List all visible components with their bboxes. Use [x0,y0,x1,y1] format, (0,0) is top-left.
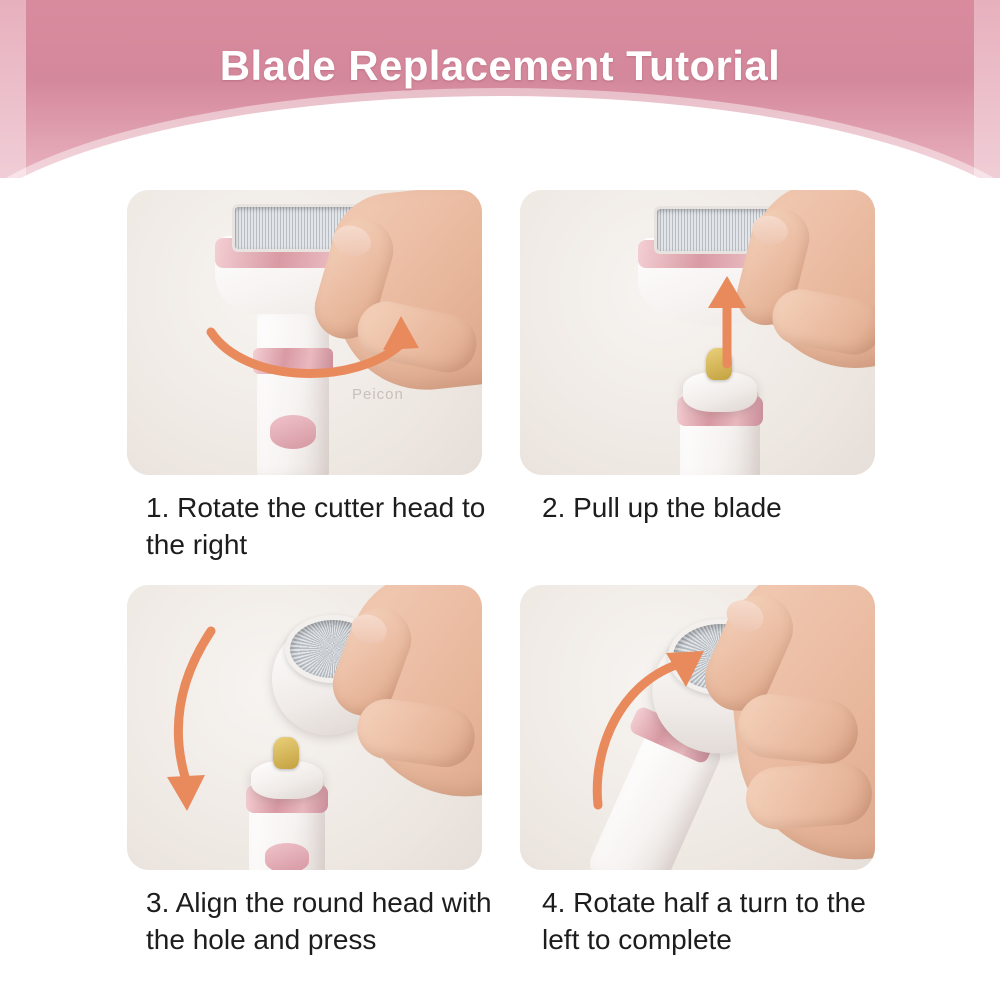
pull-up-arrow-icon [702,276,752,366]
shaver-button [265,843,309,870]
step-4: 4. Rotate half a turn to the left to com… [500,585,1000,980]
step-3-caption: 3. Align the round head with the hole an… [146,884,506,958]
rotate-right-arrow-icon [205,308,425,398]
step-1-image: Peicon [127,190,482,475]
rotate-left-arrow-icon [562,647,712,827]
step-3-image [127,585,482,870]
step-3: 3. Align the round head with the hole an… [0,585,500,980]
step-2-caption: 2. Pull up the blade [542,489,902,526]
steps-grid: Peicon 1. Rotate the cutter head to the … [0,190,1000,980]
step-1: Peicon 1. Rotate the cutter head to the … [0,190,500,585]
step-4-image [520,585,875,870]
step-2: 2. Pull up the blade [500,190,1000,585]
page-header: Blade Replacement Tutorial [0,0,1000,178]
step-1-caption: 1. Rotate the cutter head to the right [146,489,506,563]
tutorial-page: Blade Replacement Tutorial [0,0,1000,1000]
thumb [744,761,874,832]
gold-drive-pin [273,737,299,769]
step-4-caption: 4. Rotate half a turn to the left to com… [542,884,902,958]
press-down-arrow-icon [159,625,239,815]
page-title: Blade Replacement Tutorial [0,0,1000,132]
step-2-image [520,190,875,475]
shaver-button [270,415,316,449]
photo-watermark: Peicon [352,386,404,403]
